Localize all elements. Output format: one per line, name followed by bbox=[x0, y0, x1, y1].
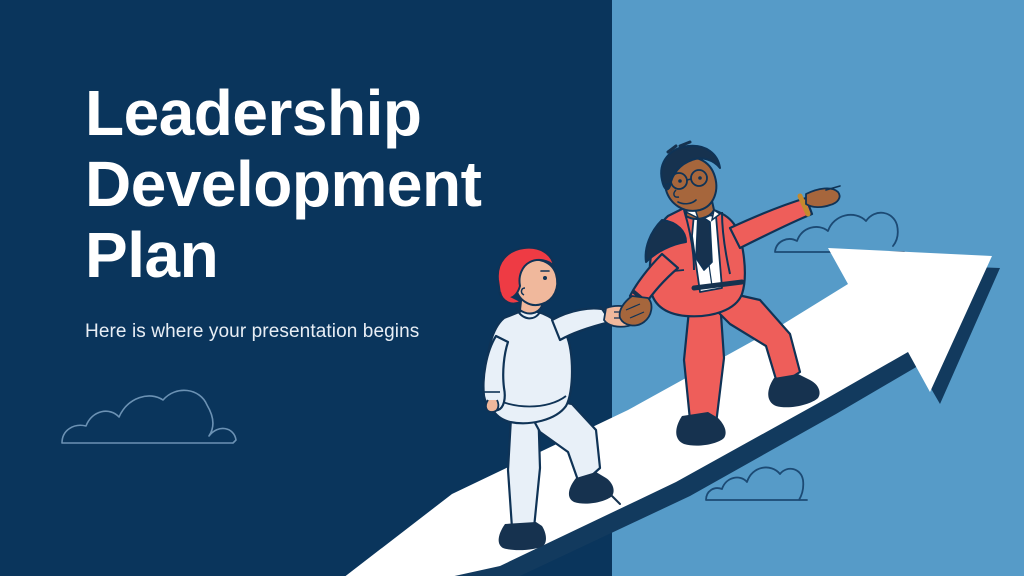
background-right-panel bbox=[612, 0, 1024, 576]
presentation-slide: Leadership Development Plan Here is wher… bbox=[0, 0, 1024, 576]
page-title: Leadership Development Plan bbox=[85, 78, 555, 291]
slide-subtitle: Here is where your presentation begins bbox=[85, 291, 555, 344]
title-block: Leadership Development Plan Here is wher… bbox=[85, 78, 555, 344]
